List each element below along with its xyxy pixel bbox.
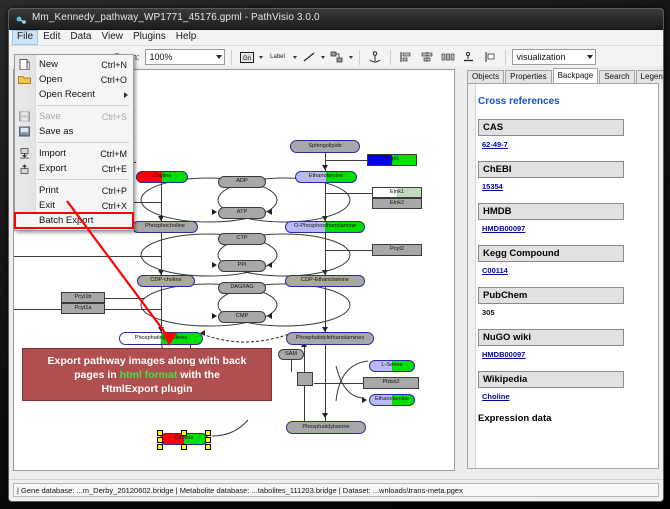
node-ethanolamine-bottom[interactable]: Ethanolamine	[369, 394, 415, 406]
arrowhead-left-cmp	[267, 313, 272, 319]
node-sphingolipids[interactable]: Sphingolipids	[290, 140, 360, 153]
menu-item-accel: Ctrl+S	[102, 112, 127, 122]
gene-etnk1[interactable]: Etnk1	[372, 187, 422, 198]
chevron-down-icon	[216, 55, 222, 59]
node-label: Ethanolamine	[375, 397, 409, 403]
align-center-icon[interactable]	[418, 48, 436, 66]
gene-label: Ptdss2	[382, 380, 399, 386]
pathvisio-window: Mm_Kennedy_pathway_WP1771_45176.gpml - P…	[8, 8, 664, 502]
menu-item-accel: Ctrl+M	[100, 149, 127, 159]
node-ethanolamine-top[interactable]: Ethanolamine	[295, 171, 357, 183]
menu-item-label: New	[39, 59, 58, 70]
node-phosphatidylethanolamines[interactable]: Phosphatidylethanolamines	[286, 332, 374, 345]
callout-line-1: Export pathway images along with back	[48, 355, 247, 367]
edge-choline-selected-curve	[208, 418, 268, 440]
node-phosphatidylserine[interactable]: Phosphatidylserine	[286, 421, 366, 434]
node-label: DAG/IAG	[230, 285, 253, 291]
submenu-arrow-icon	[124, 92, 128, 98]
node-label: Phosphocholine	[145, 224, 185, 230]
node-label: PPi	[238, 263, 247, 269]
node-label: ATP	[237, 210, 247, 216]
node-dag[interactable]: DAG/IAG	[218, 282, 266, 294]
node-cdp-ethanolamine[interactable]: CDP-Ethanolamine	[285, 275, 365, 287]
new-file-icon	[18, 59, 31, 70]
callout-line-2-highlight: html format	[120, 369, 178, 381]
xref-value-wikipedia[interactable]: Choline	[482, 392, 656, 401]
menu-item-batch-export[interactable]: Batch Export	[15, 213, 133, 228]
align-left-icon[interactable]	[397, 48, 415, 66]
xref-value-pubchem: 305	[482, 308, 656, 317]
node-label: CDP-choline	[150, 278, 181, 284]
menu-item-print[interactable]: Print Ctrl+P	[15, 183, 133, 198]
zoom-combo[interactable]: 100%	[145, 49, 225, 65]
node-label: Phosphatidylethanolamines	[296, 336, 364, 342]
xref-header-wikipedia: Wikipedia	[478, 371, 624, 388]
label-tool-text: Label	[270, 54, 285, 60]
gene-label: Pcyt2	[390, 247, 404, 253]
menu-item-exit[interactable]: Exit Ctrl+X	[15, 198, 133, 213]
node-choline[interactable]: Choline	[136, 171, 188, 183]
menu-item-label: Print	[39, 185, 59, 196]
arrowhead-down-8	[322, 413, 328, 418]
selection-handle-n[interactable]	[181, 430, 187, 436]
chevron-down-icon-2	[587, 55, 593, 59]
save-as-icon	[18, 126, 31, 137]
save-disk-icon	[18, 111, 31, 122]
menu-item-accel: Ctrl+P	[102, 186, 127, 196]
arrowhead-left-ppi	[267, 262, 272, 268]
xref-value-hmdb[interactable]: HMDB00097	[482, 224, 656, 233]
gene-label: Pcyt1a	[74, 306, 91, 312]
node-label: Phosphatidylcholines	[135, 336, 188, 342]
tab-search[interactable]: Search	[599, 70, 634, 83]
edge-ptdss2-connector	[314, 383, 364, 384]
menu-file[interactable]: File	[12, 30, 38, 45]
line-tool-icon[interactable]	[300, 48, 318, 66]
window-title: Mm_Kennedy_pathway_WP1771_45176.gpml - P…	[32, 12, 320, 23]
node-label: Choline	[175, 436, 194, 442]
node-label: Choline	[153, 174, 172, 180]
node-label: Phosphatidylserine	[302, 425, 349, 431]
menu-data[interactable]: Data	[65, 30, 96, 45]
menu-item-label: Open	[39, 74, 62, 85]
menu-edit[interactable]: Edit	[38, 30, 65, 45]
gene-sgpl1[interactable]: Sgpl1	[367, 154, 417, 166]
menu-separator-2	[37, 142, 129, 143]
gene-etnk2[interactable]: Etnk2	[372, 198, 422, 209]
toolbar-separator-2	[359, 50, 360, 65]
status-bar: | Gene database: ...m_Derby_20120602.bri…	[9, 479, 663, 501]
menu-item-label: Export	[39, 163, 66, 174]
callout-line-3: HtmlExport plugin	[102, 383, 193, 395]
menu-item-label: Save as	[39, 126, 73, 137]
xref-header-chebi: ChEBI	[478, 161, 624, 178]
gene-label: Pcyt1b	[74, 295, 91, 301]
menu-item-open-recent[interactable]: Open Recent	[15, 87, 133, 102]
selection-handle-s[interactable]	[181, 444, 187, 450]
node-label: CMP	[236, 314, 248, 320]
menu-item-save[interactable]: Save Ctrl+S	[15, 109, 133, 124]
pathvisio-icon	[15, 13, 27, 25]
selection-handle-w[interactable]	[157, 437, 163, 443]
anchor-tool-icon[interactable]	[366, 48, 384, 66]
selection-handle-se[interactable]	[205, 444, 211, 450]
tab-objects[interactable]: Objects	[467, 70, 504, 83]
selection-handle-sw[interactable]	[157, 444, 163, 450]
label-dropdown-icon[interactable]	[293, 56, 297, 59]
title-bar: Mm_Kennedy_pathway_WP1771_45176.gpml - P…	[9, 9, 663, 30]
arrowhead-left-atp	[267, 209, 272, 215]
xref-header-nugo: NuGO wiki	[478, 329, 624, 346]
menu-item-label: Batch Export	[39, 215, 93, 226]
tab-backpage[interactable]: Backpage	[553, 68, 599, 83]
gene-label: Etnk1	[390, 190, 404, 196]
callout-annotation: Export pathway images along with back pa…	[22, 348, 272, 401]
menu-item-label: Save	[39, 111, 61, 122]
gene-ptdss2[interactable]: Ptdss2	[363, 377, 419, 389]
node-cmp[interactable]: CMP	[218, 311, 266, 323]
panel-scrollbar[interactable]	[468, 84, 476, 468]
distribute-icon[interactable]	[439, 48, 457, 66]
xref-value-cas[interactable]: 62-49-7	[482, 140, 656, 149]
export-icon	[18, 163, 31, 174]
screenshot-root: Mm_Kennedy_pathway_WP1771_45176.gpml - P…	[0, 0, 670, 509]
xref-value-kegg[interactable]: C00114	[482, 266, 656, 275]
backpage-content: Cross references CAS 62-49-7 ChEBI 15354…	[478, 84, 656, 424]
arrowhead-right-ethanolamine	[362, 397, 367, 403]
xref-header-cas: CAS	[478, 119, 624, 136]
node-label: O-Phosphoethanolamine	[294, 224, 356, 230]
node-label: CTP	[236, 236, 247, 242]
xref-value-nugo[interactable]: HMDB00097	[482, 350, 656, 359]
gene-pcyt1a[interactable]: Pcyt1a	[61, 303, 105, 314]
menu-item-import[interactable]: Import Ctrl+M	[15, 146, 133, 161]
expression-data-title: Expression data	[478, 413, 656, 424]
visualization-combo[interactable]: visualization	[512, 49, 596, 65]
tab-properties[interactable]: Properties	[505, 70, 551, 83]
line-dropdown-icon[interactable]	[321, 56, 325, 59]
node-sam[interactable]: SAM	[278, 349, 304, 360]
gene-anchor-box[interactable]	[297, 372, 313, 386]
node-ctp[interactable]: CTP	[218, 233, 266, 245]
arrowhead-right-ppi	[212, 262, 217, 268]
node-label: Sphingolipids	[308, 144, 341, 150]
gene-pcyt2[interactable]: Pcyt2	[372, 244, 422, 256]
cross-references-title: Cross references	[478, 96, 656, 107]
arrowhead-down-4	[322, 165, 328, 170]
menu-item-new[interactable]: New Ctrl+N	[15, 57, 133, 72]
callout-line-2a: pages in	[74, 369, 120, 381]
pc-pe-dashed-link	[194, 328, 294, 350]
menu-plugins[interactable]: Plugins	[128, 30, 171, 45]
tab-legend[interactable]: Legend	[636, 70, 664, 83]
menu-item-label: Open Recent	[39, 89, 95, 100]
menu-item-accel: Ctrl+O	[101, 75, 127, 85]
node-o-phosphoethanolamine[interactable]: O-Phosphoethanolamine	[285, 221, 365, 233]
backpage-panel: Cross references CAS 62-49-7 ChEBI 15354…	[467, 83, 659, 469]
node-phosphocholine[interactable]: Phosphocholine	[132, 221, 198, 233]
node-l-serine[interactable]: L-Serine	[369, 360, 415, 372]
callout-line-2b: with the	[177, 369, 220, 381]
side-panel: Objects Properties Backpage Search Legen…	[459, 69, 659, 469]
gene-pcyt1b[interactable]: Pcyt1b	[61, 292, 105, 303]
arrowhead-right-atp	[212, 209, 217, 215]
toolbar-separator-3	[390, 50, 391, 65]
menu-help[interactable]: Help	[171, 30, 202, 45]
node-adp[interactable]: ADP	[218, 176, 266, 188]
datanode-tool-icon[interactable]: Gn	[238, 48, 256, 66]
open-folder-icon	[18, 74, 31, 85]
xref-header-pubchem: PubChem	[478, 287, 624, 304]
node-label: L-Serine	[381, 363, 402, 369]
xref-header-hmdb: HMDB	[478, 203, 624, 220]
menu-item-accel: Ctrl+N	[101, 60, 127, 70]
menu-bar[interactable]: File Edit Data View Plugins Help	[9, 30, 663, 46]
menu-item-label: Import	[39, 148, 66, 159]
toolbar-separator	[231, 50, 232, 65]
group-icon[interactable]	[481, 48, 499, 66]
menu-item-open[interactable]: Open Ctrl+O	[15, 72, 133, 87]
xref-value-chebi[interactable]: 15354	[482, 182, 656, 191]
node-label: SAM	[285, 352, 297, 358]
menu-view[interactable]: View	[96, 30, 128, 45]
menu-item-save-as[interactable]: Save as	[15, 124, 133, 139]
zoom-value: 100%	[150, 51, 173, 64]
gene-label: Sgpl1	[385, 157, 399, 163]
import-icon	[18, 148, 31, 159]
menu-separator-1	[37, 105, 129, 106]
xref-header-kegg: Kegg Compound	[478, 245, 624, 262]
gene-label: Etnk2	[390, 201, 404, 207]
menu-separator-3	[37, 179, 129, 180]
edge-sgpl1-connector	[325, 160, 371, 161]
node-label: ADP	[236, 179, 248, 185]
arrowhead-right-cmp	[212, 313, 217, 319]
interaction-tool-icon[interactable]	[328, 48, 346, 66]
svg-text:Gn: Gn	[243, 56, 251, 62]
stack-icon[interactable]	[460, 48, 478, 66]
interaction-dropdown-icon[interactable]	[349, 56, 353, 59]
toolbar-separator-4	[505, 50, 506, 65]
edge-sam-pe	[291, 360, 292, 372]
file-menu-dropdown[interactable]: New Ctrl+N Open Ctrl+O Open Recent Save	[14, 54, 134, 231]
node-phosphatidylcholines[interactable]: Phosphatidylcholines	[119, 332, 203, 345]
selection-handle-nw[interactable]	[157, 430, 163, 436]
node-ppi[interactable]: PPi	[218, 260, 266, 272]
menu-item-label: Exit	[39, 200, 55, 211]
menu-item-export[interactable]: Export Ctrl+E	[15, 161, 133, 176]
status-text: | Gene database: ...m_Derby_20120602.bri…	[13, 483, 659, 497]
datanode-dropdown-icon[interactable]	[259, 56, 263, 59]
node-label: Ethanolamine	[309, 174, 343, 180]
panel-tabstrip[interactable]: Objects Properties Backpage Search Legen…	[467, 69, 659, 83]
menu-item-accel: Ctrl+E	[102, 164, 127, 174]
visualization-value: visualization	[517, 51, 566, 64]
node-atp[interactable]: ATP	[218, 207, 266, 219]
label-tool-icon[interactable]: Label	[266, 48, 290, 66]
node-cdp-choline[interactable]: CDP-choline	[137, 275, 195, 287]
node-label: CDP-Ethanolamine	[301, 278, 349, 284]
menu-item-accel: Ctrl+X	[102, 201, 127, 211]
